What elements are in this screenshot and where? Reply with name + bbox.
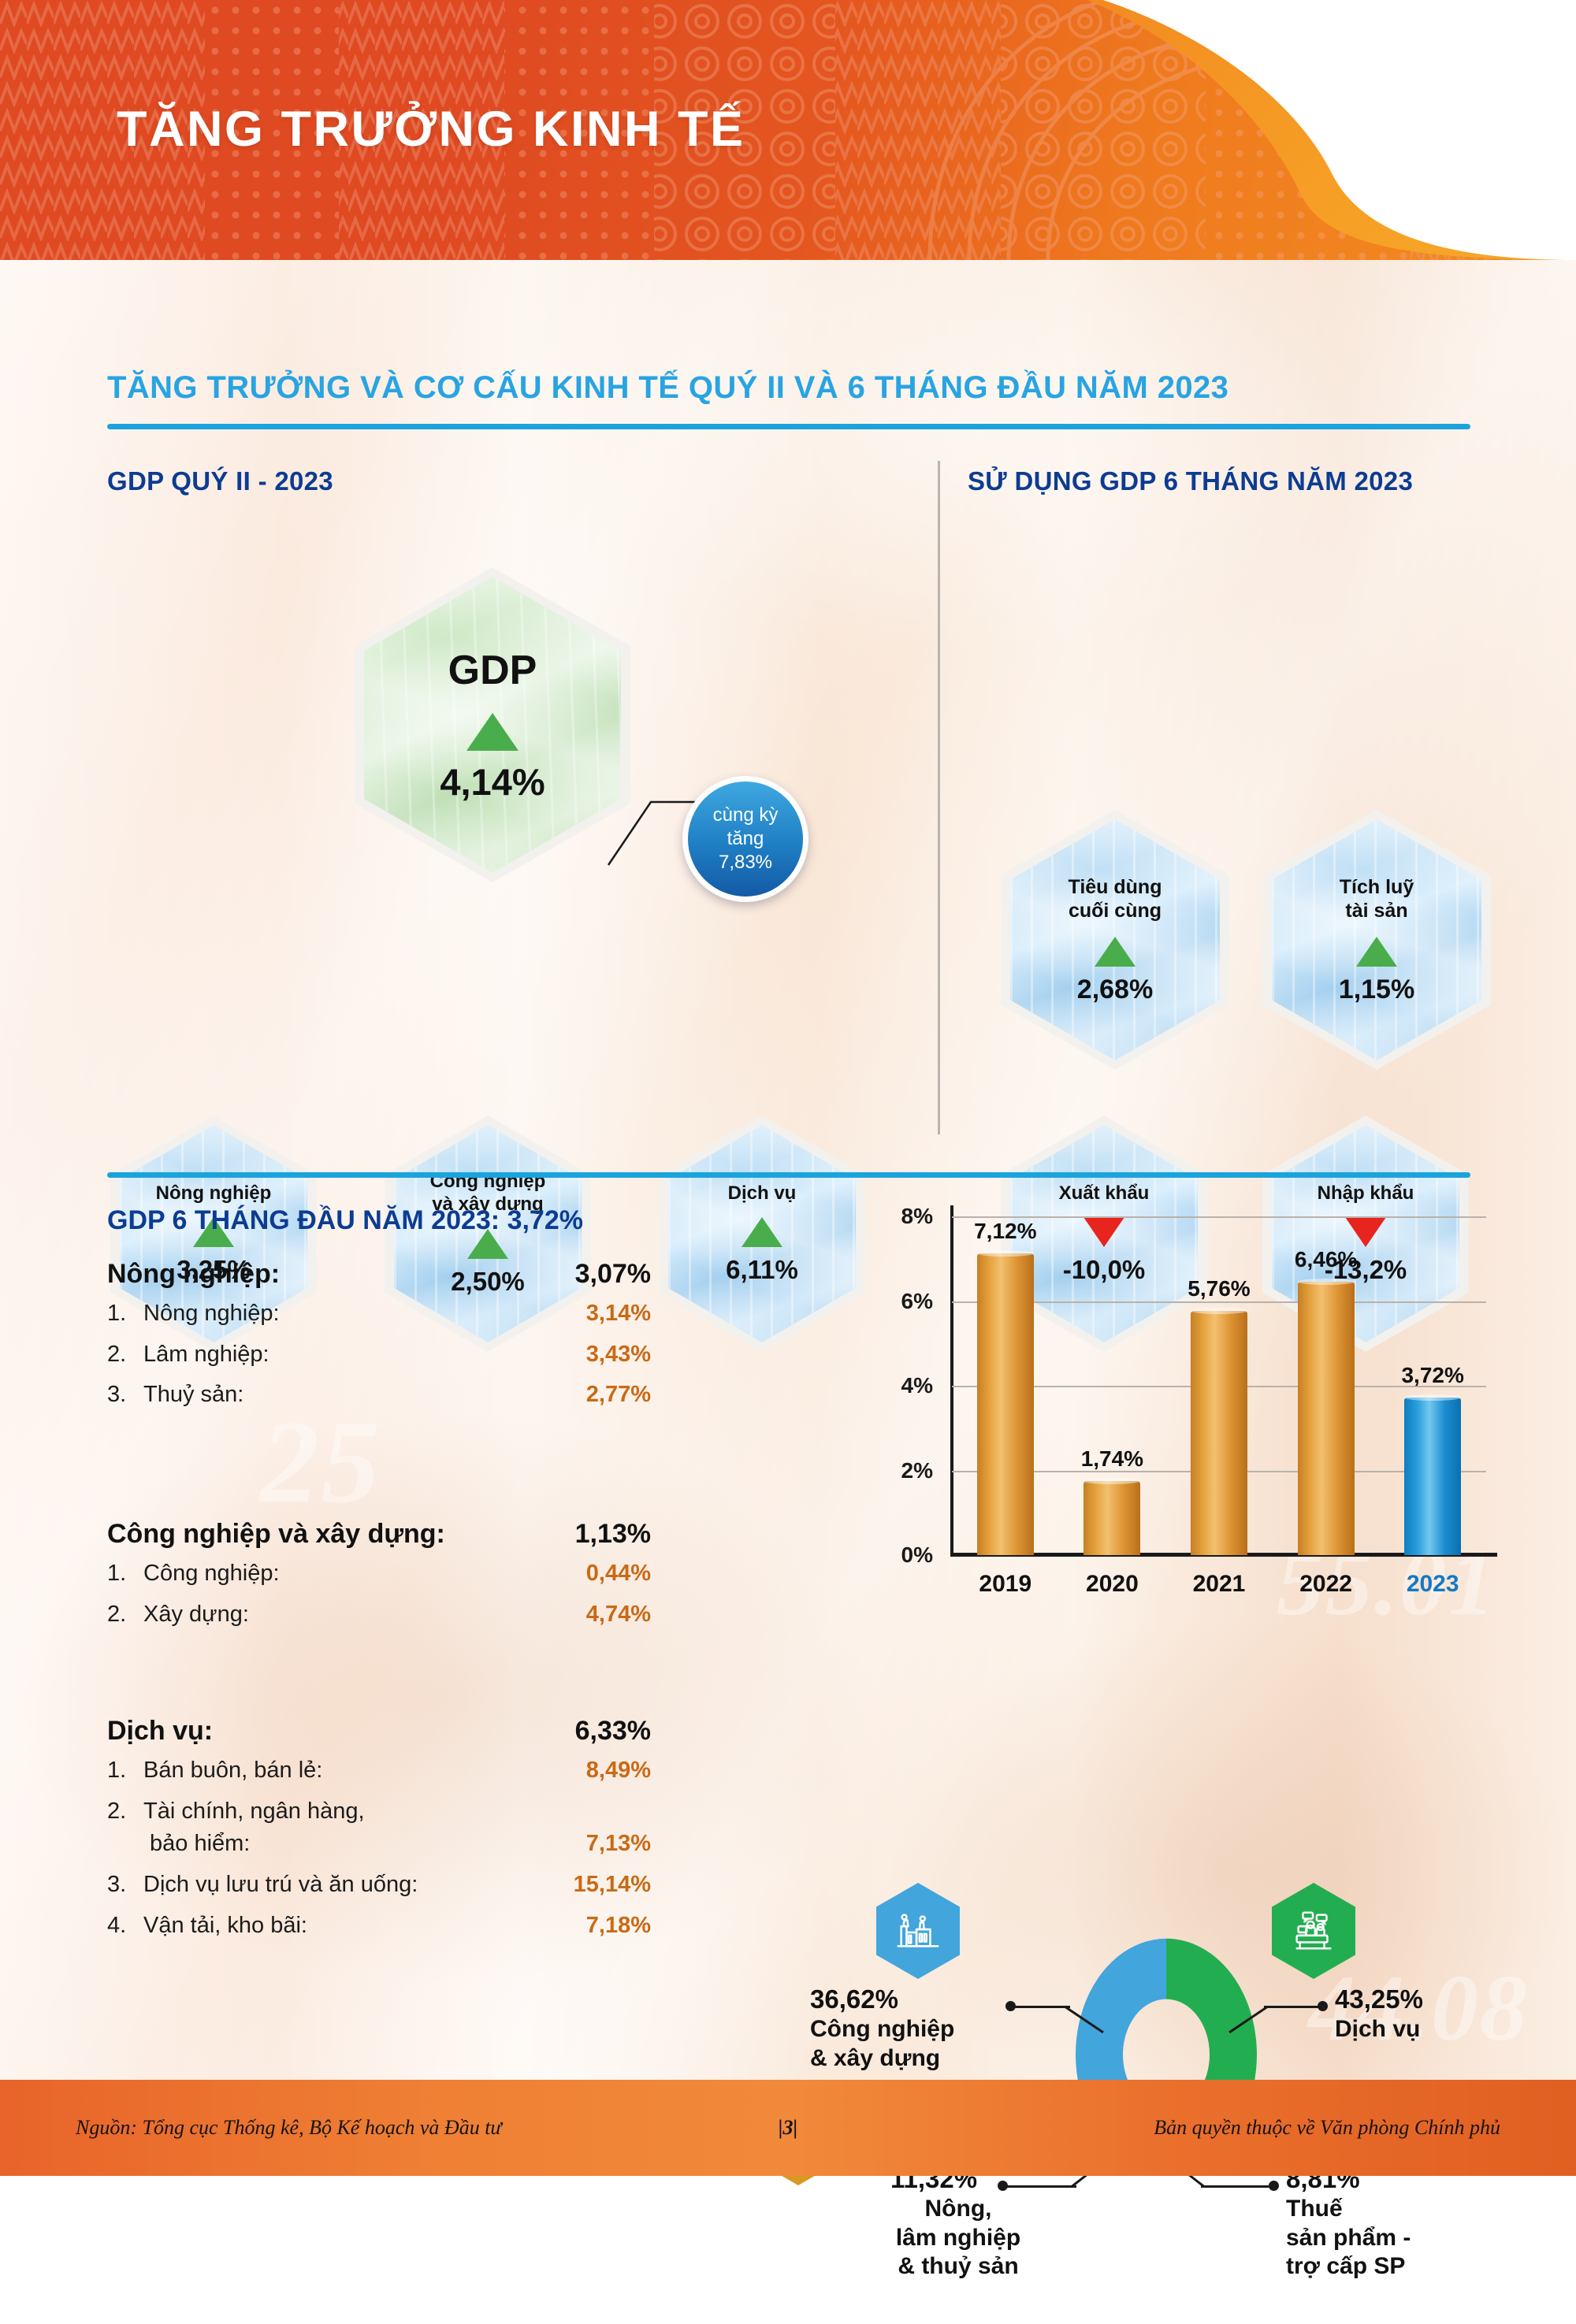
group-header: Dịch vụ: 6,33%: [107, 1716, 651, 1747]
item-value: 15,14%: [574, 1870, 651, 1900]
group-name: Công nghiệp và xây dựng:: [107, 1519, 445, 1550]
item-label: Lâm nghiệp:: [143, 1340, 586, 1370]
chart-bar-value-label: 3,72%: [1401, 1363, 1463, 1388]
hexagon-label-line2: tài sản: [1345, 900, 1407, 922]
badge-line-1: cùng kỳ: [713, 804, 779, 827]
item-number: 3.: [107, 1870, 143, 1900]
hexagon-services: Dịch vụ 6,11%: [659, 1116, 865, 1352]
chart-y-tick-label: 2%: [862, 1458, 933, 1483]
item-label: Tài chính, ngân hàng,: [143, 1797, 651, 1827]
donut-name-line2: lâm nghiệp: [864, 2224, 1053, 2253]
bar-cap: [977, 1250, 1034, 1257]
chart-y-tick-label: 8%: [862, 1204, 933, 1229]
badge-same-period-growth: cùng kỳ tăng 7,83%: [682, 776, 808, 902]
content-area: TĂNG TRƯỞNG VÀ CƠ CẤU KINH TẾ QUÝ II VÀ …: [0, 260, 1576, 2072]
list-item: 3. Thuỷ sản: 2,77%: [107, 1380, 651, 1410]
item-value: 3,14%: [586, 1299, 651, 1329]
bar-cap: [1298, 1279, 1355, 1285]
triangle-up-icon: [466, 713, 519, 751]
donut-name-line3: trợ cấp SP: [1286, 2252, 1475, 2281]
item-value: 8,49%: [586, 1756, 651, 1786]
gdp-growth-bar-chart: 0%2%4%6%8% 7,12%20191,74%20205,76%20216,…: [867, 1197, 1497, 1607]
hexagon-gdp: GDP 4,14%: [355, 567, 630, 882]
item-label: Xây dựng:: [143, 1600, 586, 1630]
hexagon-final-consumption: Tiêu dùng cuối cùng 2,68%: [1001, 810, 1229, 1070]
divider-top: [107, 424, 1470, 429]
chart-bar-value-label: 7,12%: [974, 1219, 1036, 1244]
chart-bar: [1083, 1481, 1140, 1555]
bar-cap: [1404, 1394, 1461, 1401]
triangle-up-icon: [1356, 937, 1397, 967]
chart-x-tick-label: 2022: [1299, 1571, 1352, 1598]
chart-y-tick-label: 6%: [862, 1289, 933, 1314]
footer-copyright: Bản quyền thuộc về Văn phòng Chính phủ: [1154, 2116, 1500, 2140]
triangle-up-icon: [1095, 937, 1136, 967]
donut-label-industry: 36,62% Công nghiệp & xây dựng: [810, 1984, 1007, 2073]
hexagon-value: 1,15%: [1339, 975, 1414, 1005]
donut-name-line2: & xây dựng: [810, 2044, 1007, 2073]
item-number: 2.: [107, 1600, 143, 1630]
chart-x-tick-label: 2019: [979, 1571, 1031, 1598]
list-item: 2. Xây dựng: 4,74%: [107, 1600, 651, 1630]
leader-line: [1264, 2006, 1319, 2008]
item-number: 2.: [107, 1340, 143, 1370]
breakdown-title: GDP 6 THÁNG ĐẦU NĂM 2023: 3,72%: [107, 1205, 583, 1236]
hexagon-label-line1: Tiêu dùng: [1069, 876, 1162, 898]
hexagon-label-line1: Tích luỹ: [1340, 876, 1414, 898]
page-title: TĂNG TRƯỞNG KINH TẾ: [117, 101, 745, 158]
page-footer: Nguồn: Tổng cục Thống kê, Bộ Kế hoạch và…: [0, 2080, 1576, 2176]
donut-name-line1: Dịch vụ: [1335, 2015, 1532, 2044]
subtitle-gdp-q2: GDP QUÝ II - 2023: [107, 466, 333, 496]
item-label: Công nghiệp:: [143, 1559, 586, 1589]
hexagon-gdp-value: 4,14%: [440, 760, 545, 804]
chart-x-tick-label: 2020: [1086, 1571, 1139, 1598]
chart-bar: [977, 1253, 1034, 1555]
item-label: Bán buôn, bán lẻ:: [143, 1756, 586, 1786]
badge-line-3: 7,83%: [719, 851, 772, 874]
chart-x-tick-label: 2023: [1407, 1571, 1459, 1598]
donut-label-agriculture: 11,32% Nông, lâm nghiệp & thuỷ sản: [864, 2163, 1053, 2281]
donut-name-line3: & thuỷ sản: [864, 2252, 1053, 2281]
donut-name-line1: Thuế: [1286, 2195, 1475, 2224]
list-item: 1. Bán buôn, bán lẻ: 8,49%: [107, 1756, 651, 1786]
column-divider: [938, 461, 940, 1134]
factory-icon: [876, 1883, 960, 1979]
group-items: 1. Nông nghiệp: 3,14% 2. Lâm nghiệp: 3,4…: [107, 1299, 651, 1410]
group-value: 1,13%: [575, 1519, 651, 1550]
list-item: 1. Công nghiệp: 0,44%: [107, 1559, 651, 1589]
item-value: 4,74%: [586, 1600, 651, 1630]
item-number: 3.: [107, 1380, 143, 1410]
group-value: 3,07%: [575, 1259, 651, 1290]
leader-line: [1201, 2185, 1270, 2188]
badge-line-2: tăng: [727, 827, 764, 851]
donut-pct: 43,25%: [1335, 1984, 1532, 2015]
chart-bar: [1298, 1282, 1355, 1555]
leader-line: [1015, 2006, 1070, 2008]
page-header-banner: TĂNG TRƯỞNG KINH TẾ: [0, 0, 1576, 260]
footer-source: Nguồn: Tổng cục Thống kê, Bộ Kế hoạch và…: [76, 2116, 502, 2140]
group-value: 6,33%: [575, 1716, 651, 1747]
group-name: Dịch vụ:: [107, 1716, 213, 1747]
service-desk-icon: [1272, 1883, 1355, 1979]
hexagon-gdp-label: GDP: [448, 646, 537, 695]
item-number: 4.: [107, 1911, 143, 1941]
group-items: 1. Công nghiệp: 0,44% 2. Xây dựng: 4,74%: [107, 1559, 651, 1629]
item-value: 3,43%: [586, 1340, 651, 1370]
item-value: 2,77%: [586, 1380, 651, 1410]
item-value: 7,18%: [586, 1911, 651, 1941]
bar-cap: [1083, 1478, 1140, 1484]
divider-middle: [107, 1172, 1470, 1178]
group-items: 1. Bán buôn, bán lẻ: 8,49% 2. Tài chính,…: [107, 1756, 651, 1940]
hexagon-label: Dịch vụ: [728, 1182, 797, 1205]
hexagon-asset-accumulation: Tích luỹ tài sản 1,15%: [1262, 810, 1491, 1070]
hexagon-value: 6,11%: [726, 1255, 798, 1285]
donut-label-tax: 8,81% Thuế sản phẩm - trợ cấp SP: [1286, 2163, 1475, 2281]
list-item: 2. Lâm nghiệp: 3,43%: [107, 1340, 651, 1370]
hexagon-label-line2: cuối cùng: [1069, 900, 1162, 922]
breakdown-group-services: Dịch vụ: 6,33% 1. Bán buôn, bán lẻ: 8,49…: [107, 1716, 651, 1951]
section-main-title: TĂNG TRƯỞNG VÀ CƠ CẤU KINH TẾ QUÝ II VÀ …: [107, 370, 1228, 406]
donut-name-line1: Công nghiệp: [810, 2015, 1007, 2044]
chart-bar: [1404, 1398, 1461, 1555]
list-item: 1. Nông nghiệp: 3,14%: [107, 1299, 651, 1329]
item-number: 1.: [107, 1299, 143, 1329]
list-item: 3. Dịch vụ lưu trú và ăn uống: 15,14%: [107, 1870, 651, 1900]
footer-page-number: |3|: [779, 2116, 797, 2140]
subtitle-gdp-use: SỬ DỤNG GDP 6 THÁNG NĂM 2023: [968, 466, 1413, 496]
chart-bar-value-label: 1,74%: [1081, 1446, 1143, 1472]
donut-label-services: 43,25% Dịch vụ: [1335, 1984, 1532, 2044]
group-name: Nông nghiệp:: [107, 1259, 280, 1290]
donut-name-line2: sản phẩm -: [1286, 2224, 1475, 2253]
item-number: 2.: [107, 1797, 143, 1827]
item-label: Vận tải, kho bãi:: [143, 1911, 586, 1941]
chart-y-tick-label: 4%: [862, 1373, 933, 1398]
list-item-continuation: bảo hiểm: 7,13%: [107, 1829, 651, 1859]
group-header: Công nghiệp và xây dựng: 1,13%: [107, 1519, 651, 1550]
chart-bar-value-label: 5,76%: [1188, 1276, 1250, 1301]
breakdown-group-industry: Công nghiệp và xây dựng: 1,13% 1. Công n…: [107, 1519, 651, 1640]
triangle-up-icon: [742, 1217, 782, 1247]
item-value: 7,13%: [586, 1829, 651, 1859]
item-value: 0,44%: [586, 1559, 651, 1589]
item-number: 1.: [107, 1559, 143, 1589]
chart-bar-value-label: 6,46%: [1295, 1247, 1357, 1272]
donut-name-line1: Nông,: [864, 2195, 1053, 2224]
chart-y-tick-label: 0%: [862, 1543, 933, 1568]
item-label: Dịch vụ lưu trú và ăn uống:: [143, 1870, 574, 1900]
item-number: 1.: [107, 1756, 143, 1786]
item-label: Thuỷ sản:: [143, 1380, 586, 1410]
item-label-line2: bảo hiểm:: [143, 1829, 586, 1859]
list-item: 2. Tài chính, ngân hàng,: [107, 1797, 651, 1827]
list-item: 4. Vận tải, kho bãi: 7,18%: [107, 1911, 651, 1941]
hexagon-value: 2,68%: [1077, 975, 1153, 1005]
hexagon-label: Tiêu dùng cuối cùng: [1069, 875, 1162, 923]
donut-pct: 36,62%: [810, 1984, 1007, 2015]
breakdown-group-agriculture: Nông nghiệp: 3,07% 1. Nông nghiệp: 3,14%…: [107, 1259, 651, 1421]
item-label: Nông nghiệp:: [143, 1299, 586, 1329]
bar-cap: [1191, 1308, 1247, 1314]
group-header: Nông nghiệp: 3,07%: [107, 1259, 651, 1290]
hexagon-label: Tích luỹ tài sản: [1340, 875, 1414, 923]
chart-bar: [1191, 1311, 1247, 1555]
chart-x-tick-label: 2021: [1193, 1571, 1246, 1598]
hexagon-label: Nông nghiệp: [156, 1182, 272, 1205]
